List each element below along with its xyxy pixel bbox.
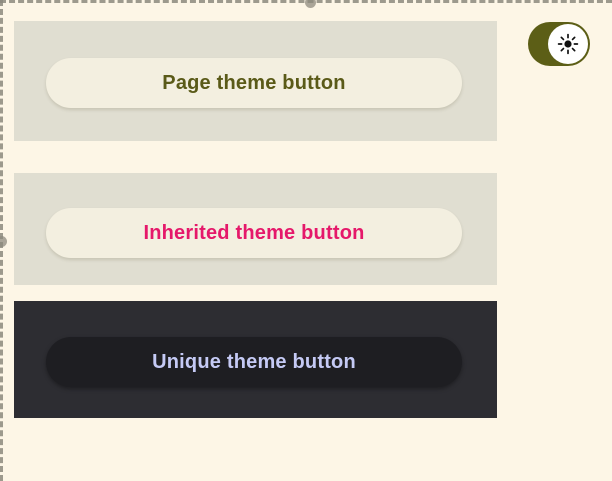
section-unique-theme: Unique theme button (14, 301, 497, 418)
unique-theme-button-label: Unique theme button (152, 351, 356, 374)
resize-handle-left-middle[interactable] (0, 236, 7, 247)
inherited-theme-button[interactable]: Inherited theme button (46, 208, 462, 258)
page-theme-button[interactable]: Page theme button (46, 58, 462, 108)
section-page-theme: Page theme button (14, 21, 497, 141)
resize-handle-top-center[interactable] (305, 0, 316, 8)
theme-toggle-switch[interactable] (528, 22, 590, 66)
theme-sections-list: Page theme button Inherited theme button… (14, 21, 497, 418)
page-theme-button-label: Page theme button (162, 72, 345, 95)
theme-toggle-knob (548, 24, 588, 64)
inherited-theme-button-label: Inherited theme button (143, 222, 364, 245)
unique-theme-button[interactable]: Unique theme button (46, 337, 462, 387)
canvas-viewport: Page theme button Inherited theme button… (0, 0, 612, 481)
section-inherited-theme: Inherited theme button (14, 173, 497, 285)
sun-icon (557, 33, 579, 55)
